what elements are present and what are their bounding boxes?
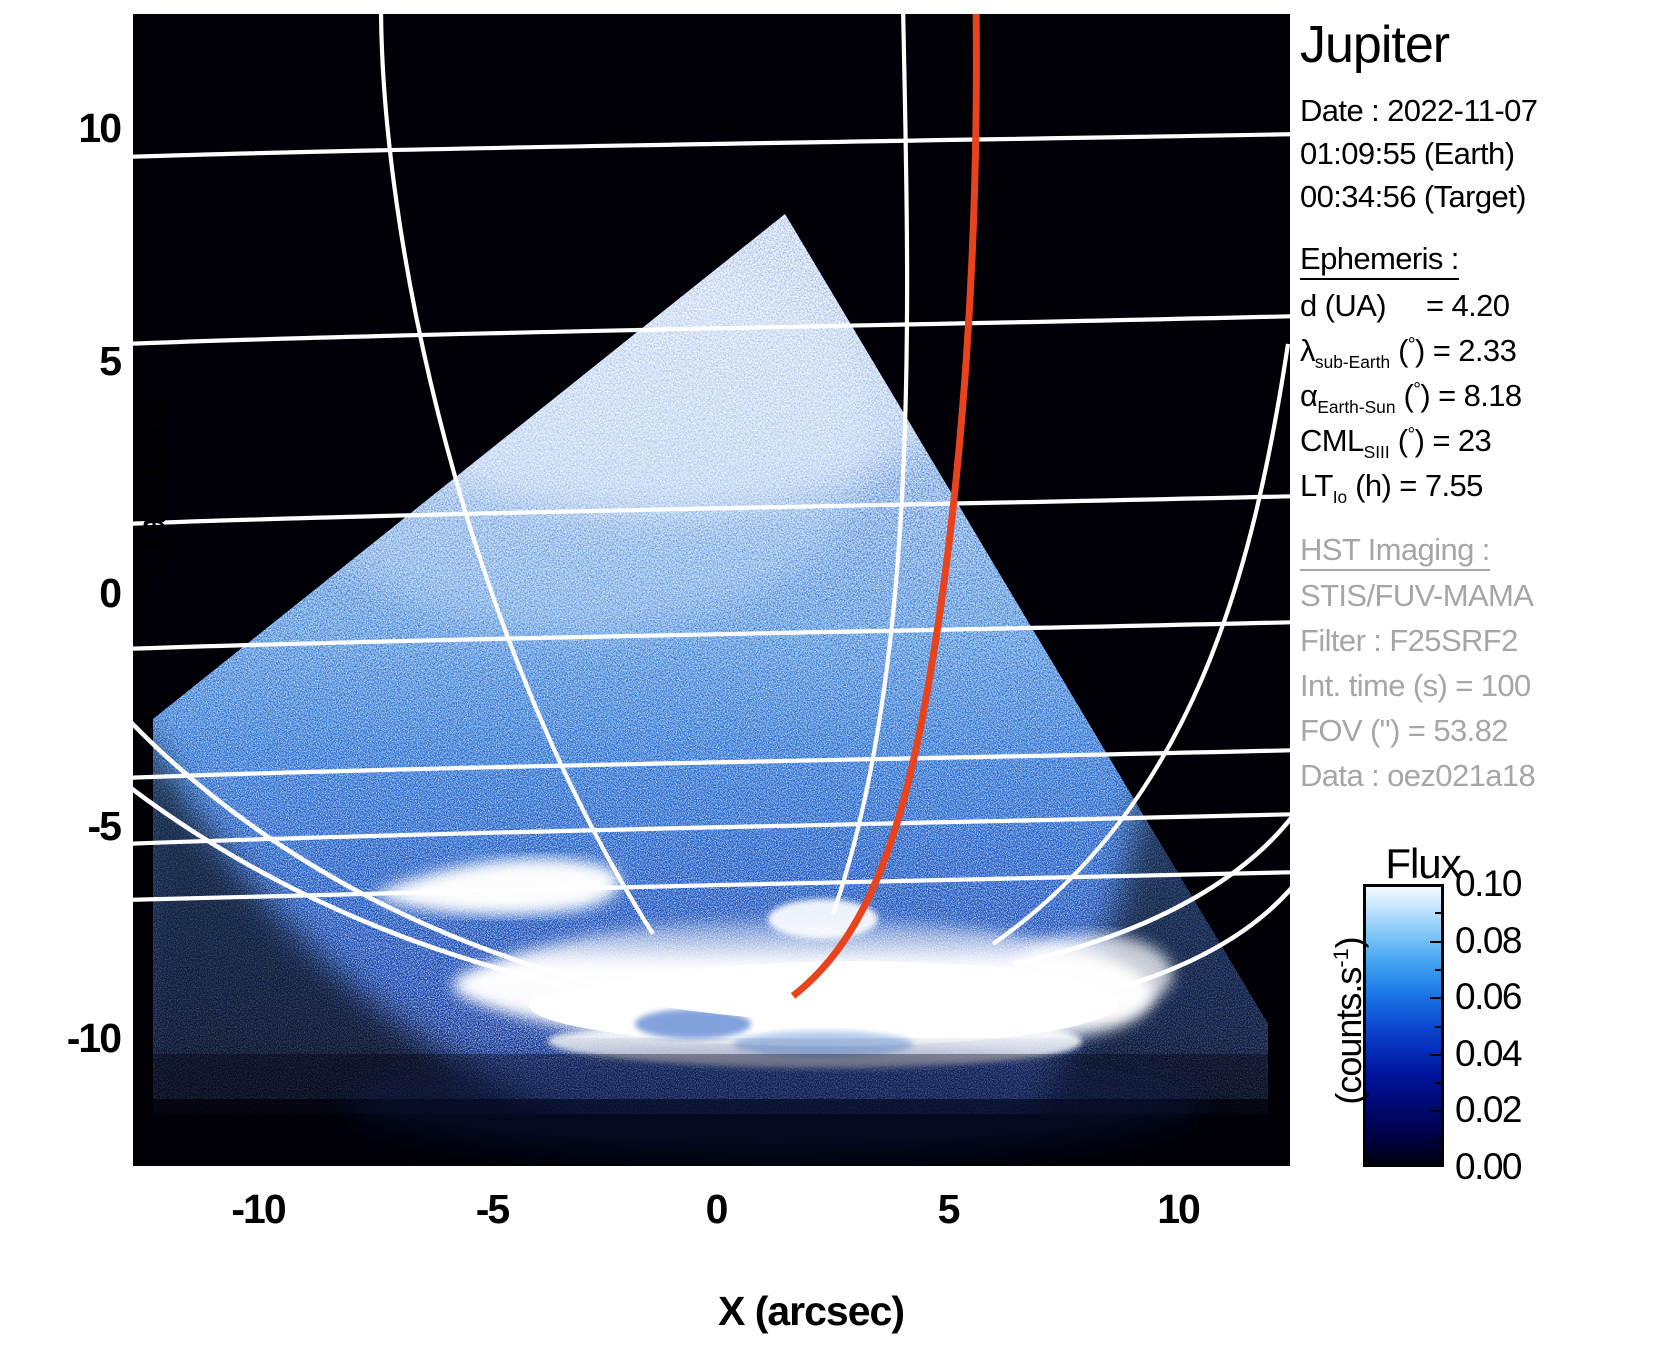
lambda-subscript: sub-Earth (1315, 352, 1390, 372)
ephemeris-row-alpha: αEarth-Sun (°) = 8.18 (1300, 378, 1522, 418)
colorbar-tick-label: 0.08 (1455, 920, 1521, 962)
ephemeris-header-label: Ephemeris : (1300, 241, 1459, 280)
cml-subscript: SIII (1364, 442, 1390, 462)
colorbar-tick-label: 0.00 (1455, 1146, 1521, 1188)
ephemeris-row-cml: CMLSIII (°) = 23 (1300, 423, 1491, 463)
x-tick-label: 10 (1118, 1186, 1238, 1233)
ephemeris-header: Ephemeris : (1300, 241, 1459, 277)
lambda-value: = 2.33 (1433, 333, 1516, 368)
target-time: 00:34:56 (Target) (1300, 179, 1526, 215)
ephemeris-row-lambda: λsub-Earth (°) = 2.33 (1300, 333, 1516, 373)
hst-int-time: Int. time (s) = 100 (1300, 668, 1531, 704)
ephemeris-row-lt: LTIo (h) = 7.55 (1300, 468, 1483, 508)
plot-svg (133, 14, 1290, 1166)
aurora-image-plot (133, 14, 1290, 1166)
colorbar-unit-main: (counts.s (1328, 968, 1369, 1105)
x-tick-label: 0 (656, 1186, 776, 1233)
y-axis-title: Y (arcsec) (129, 334, 176, 654)
x-tick-label: 5 (888, 1186, 1008, 1233)
colorbar-unit-close: ) (1328, 937, 1369, 948)
y-tick-label: 5 (0, 338, 120, 385)
colorbar-ticks (1363, 884, 1444, 1167)
x-axis-title: X (arcsec) (651, 1288, 971, 1335)
y-tick-label: -10 (0, 1015, 120, 1062)
lt-label: LT (1300, 468, 1333, 503)
hst-instrument: STIS/FUV-MAMA (1300, 578, 1533, 614)
ephemeris-row-distance: d (UA) = 4.20 (1300, 288, 1509, 324)
x-tick-label: -5 (432, 1186, 552, 1233)
lt-value: = 7.55 (1399, 468, 1482, 503)
y-tick-label: 0 (0, 570, 120, 617)
cml-label: CML (1300, 423, 1364, 458)
colorbar-tick-label: 0.06 (1455, 976, 1521, 1018)
distance-label: d (UA) (1300, 288, 1386, 323)
colorbar-tick-label: 0.02 (1455, 1089, 1521, 1131)
hst-filter: Filter : F25SRF2 (1300, 623, 1518, 659)
hst-imaging-header-label: HST Imaging : (1300, 532, 1490, 571)
colorbar-unit-exponent: -1 (1328, 948, 1353, 967)
x-tick-label: -10 (198, 1186, 318, 1233)
info-panel: Jupiter Date : 2022-11-07 01:09:55 (Eart… (1300, 0, 1677, 1367)
hst-fov: FOV (") = 53.82 (1300, 713, 1508, 749)
colorbar-tick-label: 0.04 (1455, 1033, 1521, 1075)
colorbar-tick-label: 0.10 (1455, 863, 1521, 905)
y-tick-label: -5 (0, 803, 120, 850)
y-tick-label: 10 (0, 105, 120, 152)
cml-value: = 23 (1432, 423, 1491, 458)
alpha-value: = 8.18 (1438, 378, 1521, 413)
lt-subscript: Io (1333, 487, 1347, 507)
hst-data-id: Data : oez021a18 (1300, 758, 1535, 794)
alpha-subscript: Earth-Sun (1317, 397, 1395, 417)
colorbar-unit-label: (counts.s-1) (1328, 876, 1370, 1166)
hst-imaging-header: HST Imaging : (1300, 532, 1490, 568)
earth-time: 01:09:55 (Earth) (1300, 136, 1514, 172)
page-title: Jupiter (1300, 15, 1449, 75)
date-line: Date : 2022-11-07 (1300, 93, 1537, 129)
distance-value: = 4.20 (1426, 288, 1509, 323)
